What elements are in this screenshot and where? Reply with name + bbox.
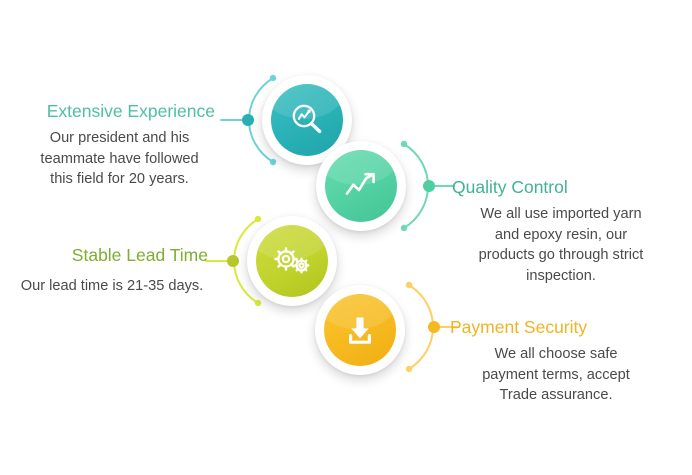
title-stable-lead-time: Stable Lead Time <box>10 245 208 265</box>
badge-disc-stable-lead-time <box>256 225 328 297</box>
badge-disc-payment-security <box>324 294 396 366</box>
text-block-stable-lead-time: Stable Lead Time Our lead time is 21-35 … <box>10 245 208 297</box>
growth-arrow-icon <box>340 165 382 207</box>
text-block-quality-control: Quality Control We all use imported yarn… <box>452 177 684 286</box>
body-payment-security: We all choose safe payment terms, accept… <box>450 344 682 406</box>
body-line: and epoxy resin, our <box>452 225 670 246</box>
title-quality-control: Quality Control <box>452 177 684 197</box>
body-line: products go through strict <box>452 245 670 266</box>
gears-icon <box>270 241 314 281</box>
body-line: Trade assurance. <box>450 385 662 406</box>
body-line: We all use imported yarn <box>452 204 670 225</box>
badge-quality-control[interactable] <box>316 141 406 231</box>
badge-disc-extensive-experience <box>271 84 343 156</box>
badge-payment-security[interactable] <box>315 285 405 375</box>
magnifier-chart-icon <box>287 100 327 140</box>
badge-stable-lead-time[interactable] <box>247 216 337 306</box>
title-extensive-experience: Extensive Experience <box>10 101 215 121</box>
body-stable-lead-time: Our lead time is 21-35 days. <box>10 276 208 297</box>
body-extensive-experience: Our president and his teammate have foll… <box>10 128 215 190</box>
text-block-extensive-experience: Extensive Experience Our president and h… <box>10 101 215 190</box>
text-block-payment-security: Payment Security We all choose safe paym… <box>450 317 682 406</box>
body-line: We all choose safe <box>450 344 662 365</box>
title-payment-security: Payment Security <box>450 317 682 337</box>
body-quality-control: We all use imported yarn and epoxy resin… <box>452 204 684 286</box>
body-line: payment terms, accept <box>450 365 662 386</box>
badge-disc-quality-control <box>325 150 397 222</box>
body-line: Our president and his <box>24 128 215 149</box>
body-line: teammate have followed <box>24 149 215 170</box>
body-line: inspection. <box>452 266 670 287</box>
body-line: Our lead time is 21-35 days. <box>16 276 208 297</box>
download-icon <box>340 310 380 350</box>
infographic-canvas: Extensive Experience Our president and h… <box>0 0 692 475</box>
body-line: this field for 20 years. <box>24 169 215 190</box>
